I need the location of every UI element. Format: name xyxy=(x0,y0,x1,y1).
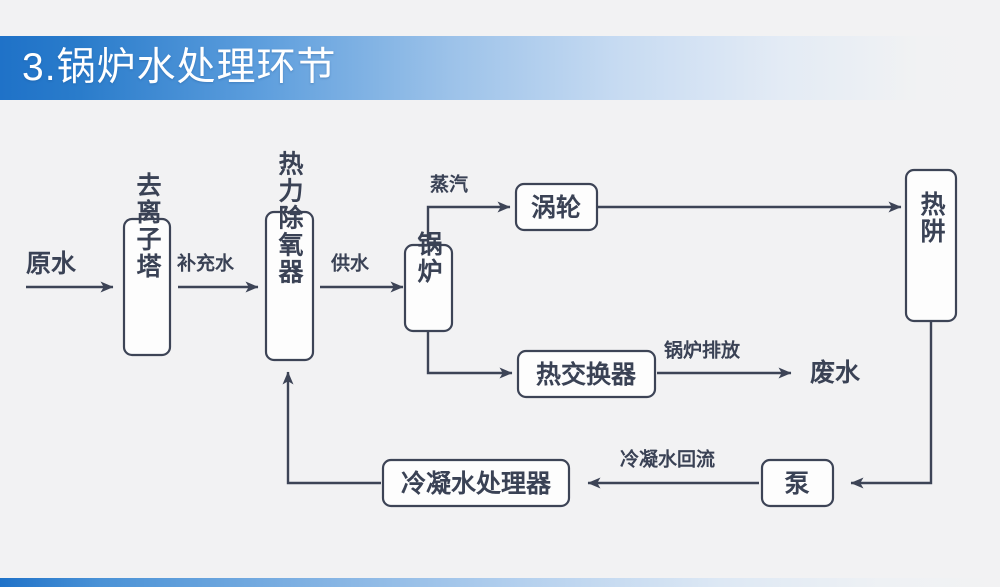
node-deionizer[interactable]: 去离子塔 xyxy=(124,172,170,355)
node-label-pump: 泵 xyxy=(784,470,809,498)
edge-heat-exchanger-to-wastewater: 锅炉排放 xyxy=(657,339,791,374)
node-pump[interactable]: 泵 xyxy=(762,460,833,506)
edge-heat-sink-to-pump xyxy=(851,321,931,483)
node-condensate-unit[interactable]: 冷凝水处理器 xyxy=(383,460,569,506)
node-heat-exchanger[interactable]: 热交换器 xyxy=(518,351,655,397)
node-label-boiler: 锅炉 xyxy=(414,231,443,285)
edge-label-condensate-return: 冷凝水回流 xyxy=(620,448,715,471)
page-title: 3.锅炉水处理环节 xyxy=(22,39,337,97)
boiler-water-treatment-flowchart: 补充水 供水 蒸汽 锅炉排放 xyxy=(0,100,1000,578)
edge-boiler-to-heat-exchanger xyxy=(428,331,512,373)
edge-pump-to-condensate-unit: 冷凝水回流 xyxy=(588,448,759,484)
node-deaerator[interactable]: 热力除氧器 xyxy=(266,151,313,361)
node-label-turbine: 涡轮 xyxy=(531,194,581,222)
node-label-heat-sink: 热阱 xyxy=(917,191,946,245)
label-wastewater: 废水 xyxy=(810,358,861,387)
bottom-accent-bar xyxy=(0,578,1000,587)
node-heat-sink[interactable]: 热阱 xyxy=(906,170,956,321)
edge-deionizer-to-deaerator: 补充水 xyxy=(177,252,258,288)
node-label-deaerator: 热力除氧器 xyxy=(275,151,305,286)
edge-condensate-unit-to-deaerator xyxy=(288,372,381,483)
edge-label-feed-water: 供水 xyxy=(330,252,370,275)
label-raw-water: 原水 xyxy=(26,250,77,278)
node-turbine[interactable]: 涡轮 xyxy=(516,184,597,230)
node-label-deionizer: 去离子塔 xyxy=(133,172,162,280)
node-label-heat-exchanger: 热交换器 xyxy=(536,360,637,389)
slide-page: 3.锅炉水处理环节 补充水 供水 蒸汽 xyxy=(0,0,1000,587)
edge-label-makeup-water: 补充水 xyxy=(177,252,235,275)
edge-label-boiler-blowdown: 锅炉排放 xyxy=(664,339,741,362)
edge-label-steam: 蒸汽 xyxy=(430,173,468,196)
edge-deaerator-to-boiler: 供水 xyxy=(320,252,403,288)
node-boiler[interactable]: 锅炉 xyxy=(405,231,452,331)
node-label-condensate-unit: 冷凝水处理器 xyxy=(401,469,552,498)
